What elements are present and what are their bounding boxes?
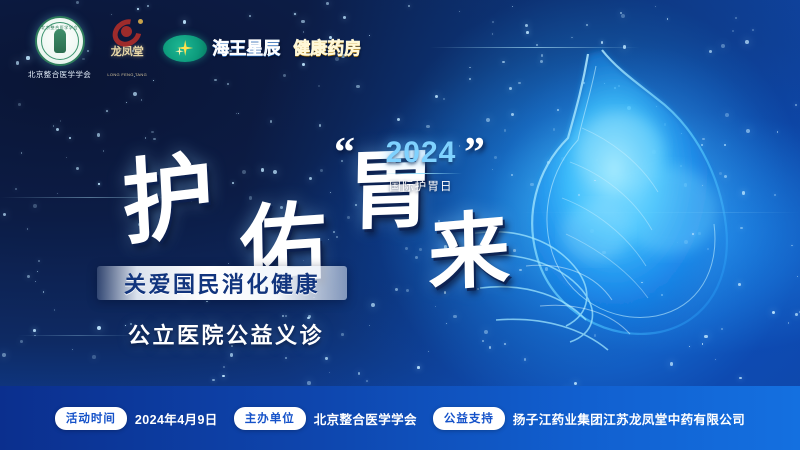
- footer-value: 2024年4月9日: [135, 409, 218, 428]
- year-block: 2024 国际护胃日: [378, 138, 464, 194]
- event-name-label: 国际护胃日: [378, 178, 464, 194]
- sponsor-logo-bar: 北京整合医学学会 北京整合医学学会 龙凤堂 LONG FENG TANG 海王星…: [28, 16, 361, 80]
- subtitle-text: 关爱国民消化健康: [124, 267, 320, 299]
- gold-dot-icon: [138, 19, 143, 24]
- footer-bar: 活动时间 2024年4月9日 主办单位 北京整合医学学会 公益支持 扬子江药业集…: [0, 386, 800, 450]
- subtitle-banner: 关爱国民消化健康: [97, 266, 347, 300]
- green-circular-seal-icon: 北京整合医学学会: [35, 16, 85, 66]
- logo-health-pharmacy[interactable]: 健康药房: [293, 40, 361, 57]
- poster-canvas: 北京整合医学学会 北京整合医学学会 龙凤堂 LONG FENG TANG 海王星…: [0, 0, 800, 450]
- footer-label: 主办单位: [234, 407, 306, 430]
- footer-value: 扬子江药业集团江苏龙凤堂中药有限公司: [513, 409, 745, 428]
- footer-item-event-time: 活动时间 2024年4月9日: [55, 407, 218, 430]
- logo-neptunus-pharmacy[interactable]: 海王星辰: [163, 35, 280, 62]
- footer-label: 活动时间: [55, 407, 127, 430]
- seal-arc-text: 北京整合医学学会: [37, 25, 83, 31]
- logo-long-feng-tang[interactable]: 龙凤堂 LONG FENG TANG: [104, 20, 150, 77]
- teal-star-oval-icon: [163, 35, 207, 62]
- seal-figure-glyph: [54, 29, 66, 53]
- stomach-illustration: [470, 20, 800, 380]
- title-char-4: 来: [427, 208, 510, 297]
- logo-caption: 北京整合医学学会: [28, 69, 91, 80]
- quote-close-mark: ”: [464, 132, 485, 174]
- logo-beijing-integrative-medicine-society[interactable]: 北京整合医学学会 北京整合医学学会: [28, 16, 91, 80]
- footer-value: 北京整合医学学会: [314, 409, 417, 428]
- footer-label: 公益支持: [433, 407, 505, 430]
- logo-name-cn: 龙凤堂: [111, 47, 144, 58]
- tagline-text: 公立医院公益义诊: [128, 318, 324, 350]
- footer-item-supporter: 公益支持 扬子江药业集团江苏龙凤堂中药有限公司: [433, 407, 745, 430]
- logo-name-cn: 海王星辰: [212, 40, 280, 57]
- logo-name-pinyin: LONG FENG TANG: [107, 72, 147, 77]
- phoenix-swirl-icon: 龙凤堂: [104, 20, 150, 70]
- year-label: 2024: [378, 138, 464, 168]
- title-char-1: 护: [120, 148, 216, 251]
- footer-item-organizer: 主办单位 北京整合医学学会: [234, 407, 417, 430]
- year-divider: [380, 173, 462, 174]
